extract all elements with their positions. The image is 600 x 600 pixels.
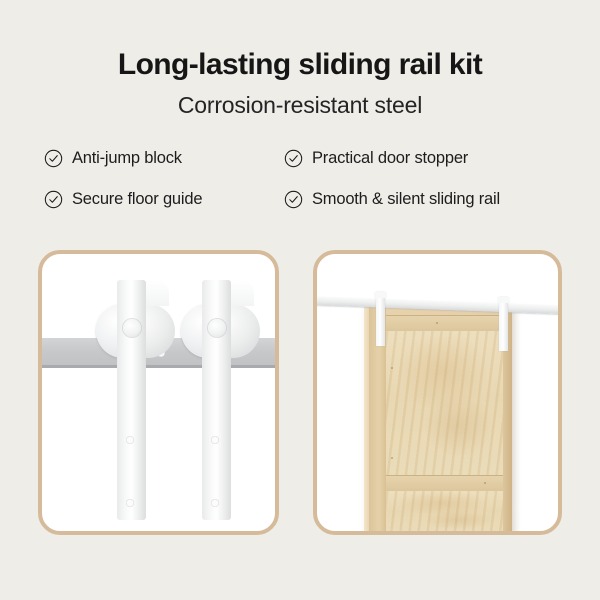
feature-list: Anti-jump block Practical door stopper S… (44, 138, 556, 220)
feature-label: Anti-jump block (72, 149, 182, 168)
door-nail (436, 322, 438, 324)
wooden-barn-door (364, 307, 512, 531)
feature-label: Secure floor guide (72, 190, 202, 209)
feature-item-secure-floor-guide: Secure floor guide (44, 179, 284, 220)
feature-item-anti-jump-block: Anti-jump block (44, 138, 284, 179)
hanger-bolt-cap (123, 319, 141, 337)
feature-item-smooth-silent-sliding-rail: Smooth & silent sliding rail (284, 179, 556, 220)
product-image-panels (0, 250, 600, 540)
feature-item-practical-door-stopper: Practical door stopper (284, 138, 556, 179)
check-circle-icon (284, 149, 303, 168)
page-title: Long-lasting sliding rail kit (0, 49, 600, 81)
check-circle-icon (44, 190, 63, 209)
hanger-strap (202, 280, 231, 520)
door-nail (391, 457, 393, 459)
roller-hanger-right (179, 280, 253, 520)
hanger-bolt-hole (126, 436, 134, 444)
header: Long-lasting sliding rail kit Corrosion-… (0, 0, 600, 119)
hanger-bolt-cap (208, 319, 226, 337)
roller-hanger-left (94, 280, 168, 520)
hanger-bolt-hole (126, 499, 134, 507)
hanger-strap (117, 280, 146, 520)
door-lower-panel (386, 491, 503, 531)
installed-door-panel (313, 250, 562, 535)
check-circle-icon (284, 190, 303, 209)
installed-door-illustration (317, 254, 558, 531)
hanger-bolt-hole (211, 499, 219, 507)
hardware-closeup-illustration (42, 254, 275, 531)
hanger-bolt-hole (211, 436, 219, 444)
door-hanger-strap-left (376, 292, 385, 346)
door-hanger-strap-right (499, 297, 508, 351)
door-nail (391, 367, 393, 369)
feature-label: Smooth & silent sliding rail (312, 190, 500, 209)
page-subtitle: Corrosion-resistant steel (0, 92, 600, 119)
door-upper-panel (386, 331, 503, 475)
door-nail (484, 482, 486, 484)
feature-label: Practical door stopper (312, 149, 468, 168)
hardware-closeup-panel (38, 250, 279, 535)
check-circle-icon (44, 149, 63, 168)
door-top-rail (386, 315, 503, 332)
